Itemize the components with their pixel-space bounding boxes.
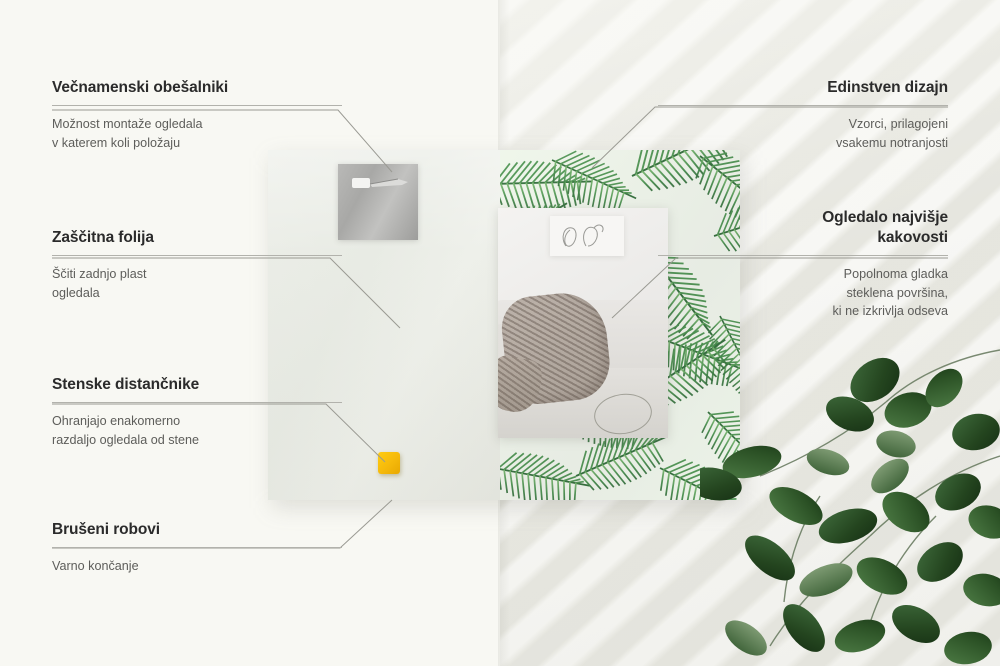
callout-desc: Ohranjajo enakomerno razdaljo ogledala o…	[52, 412, 342, 450]
callout-title: Zaščitna folija	[52, 228, 342, 248]
callout-rule	[52, 547, 342, 548]
callout-title: Večnamenski obešalniki	[52, 78, 342, 98]
callout-title: Ogledalo najvišje kakovosti	[658, 208, 948, 248]
callout-top-quality-mirror: Ogledalo najvišje kakovosti Popolnoma gl…	[658, 208, 948, 321]
callout-title: Edinstven dizajn	[658, 78, 948, 98]
callout-rule	[658, 255, 948, 256]
callout-desc: Ščiti zadnjo plast ogledala	[52, 265, 342, 303]
callout-desc: Vzorci, prilagojeni vsakemu notranjosti	[658, 115, 948, 153]
callout-desc: Popolnoma gladka steklena površina, ki n…	[658, 265, 948, 322]
infographic-stage: Večnamenski obešalniki Možnost montaže o…	[0, 0, 1000, 666]
callout-rule	[52, 105, 342, 106]
callout-rule	[52, 402, 342, 403]
callout-wall-spacers: Stenske distančnike Ohranjajo enakomerno…	[52, 375, 342, 450]
callout-polished-edges: Brušeni robovi Varno končanje	[52, 520, 342, 576]
callout-title: Stenske distančnike	[52, 375, 342, 395]
callout-unique-design: Edinstven dizajn Vzorci, prilagojeni vsa…	[658, 78, 948, 153]
callout-desc: Možnost montaže ogledala v katerem koli …	[52, 115, 342, 153]
callout-rule	[52, 255, 342, 256]
callout-desc: Varno končanje	[52, 557, 342, 576]
callout-rule	[658, 105, 948, 106]
callout-protective-foil: Zaščitna folija Ščiti zadnjo plast ogled…	[52, 228, 342, 303]
callout-title: Brušeni robovi	[52, 520, 342, 540]
callout-hangers: Večnamenski obešalniki Možnost montaže o…	[52, 78, 342, 153]
